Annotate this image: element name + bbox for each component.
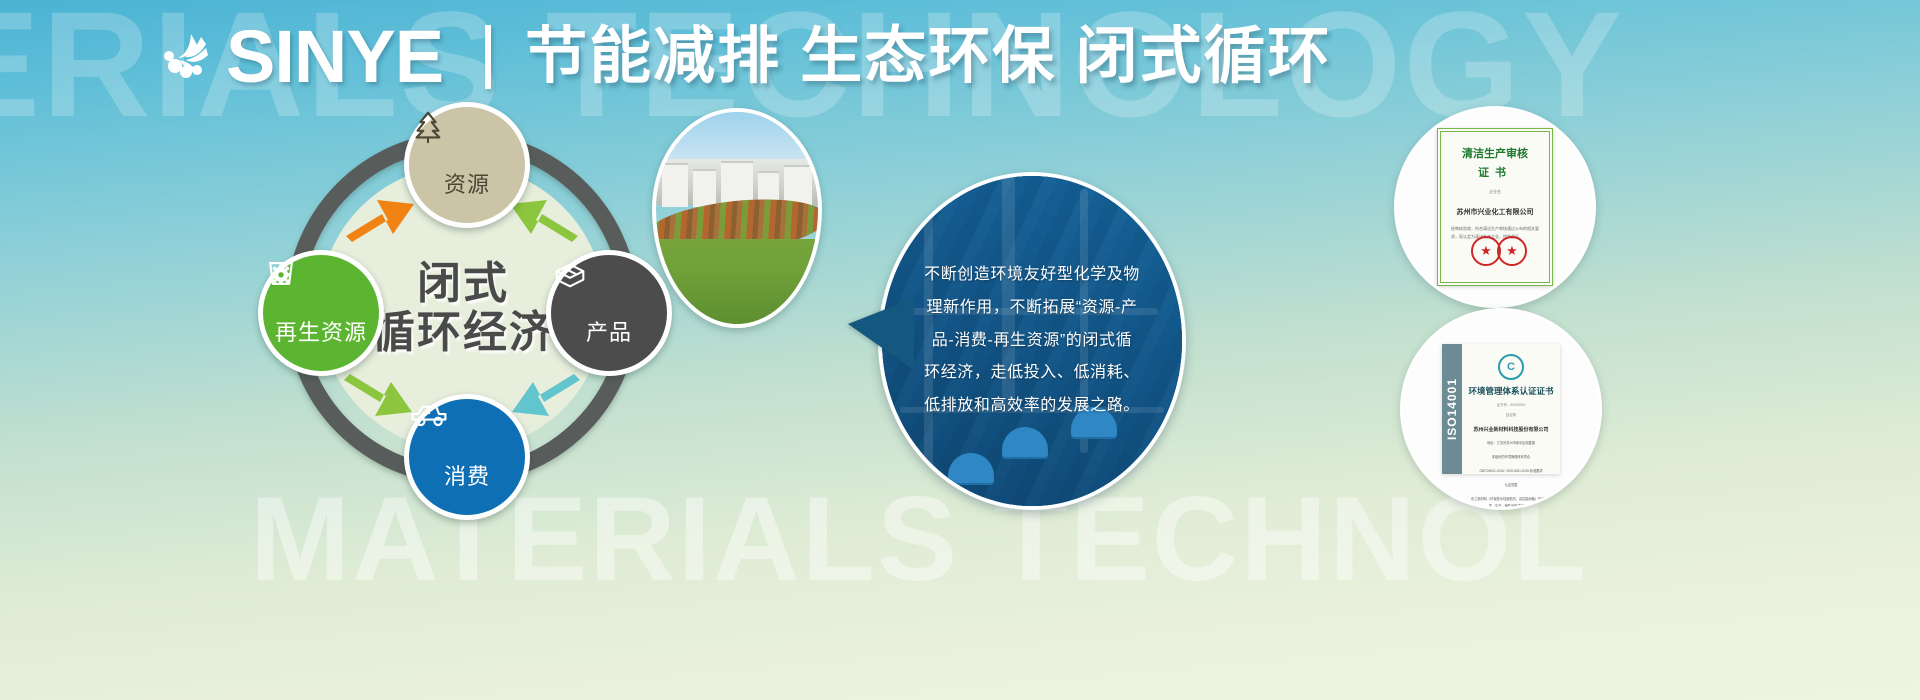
cert2-logo-icon: C <box>1498 354 1524 380</box>
cert2-cert-no: 证书号：00000000 <box>1468 402 1554 407</box>
cycle-node-recycle-label: 再生资源 <box>275 321 367 345</box>
cycle-node-product-label: 产品 <box>586 321 632 345</box>
bubble-line-1: 不断创造环境友好型化学及物 <box>924 259 1140 292</box>
cycle-center-label: 闭式 循环经济 <box>350 200 576 416</box>
bubble-line-4: 环经济，走低投入、低消耗、 <box>924 357 1140 390</box>
recycle-bin-icon <box>302 281 340 319</box>
cycle-node-resource-label: 资源 <box>444 173 490 197</box>
header-divider <box>485 25 491 89</box>
speech-bubble-body: 不断创造环境友好型化学及物 理新作用，不断拓展“资源-产 品-消费-再生资源”的… <box>878 172 1186 510</box>
speech-bubble-text: 不断创造环境友好型化学及物 理新作用，不断拓展“资源-产 品-消费-再生资源”的… <box>882 176 1182 506</box>
cert2-company-label: 兹证明 <box>1468 412 1554 417</box>
photo-lawn <box>656 239 818 324</box>
cert1-company: 苏州市兴业化工有限公司 <box>1446 207 1544 217</box>
cert1-subtitle: 证书 <box>1446 164 1544 180</box>
speech-bubble: 不断创造环境友好型化学及物 理新作用，不断拓展“资源-产 品-消费-再生资源”的… <box>848 172 1178 502</box>
header: SINYE 节能减排 生态环保 闭式循环 <box>160 14 1332 100</box>
bubble-line-2: 理新作用，不断拓展“资源-产 <box>926 292 1137 325</box>
certificate-clean-production[interactable]: 清洁生产审核 证书 企业名 苏州市兴业化工有限公司 经审核验收，符合清洁生产审核… <box>1394 106 1596 308</box>
certificate-paper: ISO14001 C 环境管理体系认证证书 证书号：00000000 兹证明 苏… <box>1442 344 1560 474</box>
photo-buildings <box>656 159 818 206</box>
cert2-company: 苏州兴业新材料科技股份有限公司 <box>1468 426 1554 433</box>
certificate-paper: 清洁生产审核 证书 企业名 苏州市兴业化工有限公司 经审核验收，符合清洁生产审核… <box>1437 128 1553 286</box>
headline: 节能减排 生态环保 闭式循环 <box>525 26 1331 88</box>
cert1-body: 经审核验收，符合清洁生产审核通过公布的相关要求，现认定为清洁生产企业，特发此证。 <box>1451 225 1539 240</box>
cert2-main: C 环境管理体系认证证书 证书号：00000000 兹证明 苏州兴业新材料科技股… <box>1462 344 1560 474</box>
cert2-scope-label: 认证范围 <box>1468 482 1554 489</box>
cert2-side-band: ISO14001 <box>1442 344 1462 474</box>
cert2-address: 地址：江苏省苏州市吴中区甪直镇 <box>1468 440 1554 447</box>
cert1-company-label: 企业名 <box>1446 189 1544 195</box>
cycle-node-consume-label: 消费 <box>444 465 490 489</box>
package-icon <box>590 281 628 319</box>
cycle-center-line2: 循环经济 <box>371 308 555 357</box>
cert2-side-label: ISO14001 <box>1445 378 1459 440</box>
circular-economy-diagram: 闭式 循环经济 资源 产品 <box>262 108 662 508</box>
cert1-stamp-right: ★ <box>1497 236 1527 266</box>
logo-text: SINYE <box>226 20 443 94</box>
cycle-center-line1: 闭式 <box>417 259 509 308</box>
banner-root: ERIALS TECHNOLOGY MATERIALS TECHNOL SINY… <box>0 0 1920 700</box>
cycle-node-consume[interactable]: 消费 <box>404 394 530 520</box>
cycle-node-recycle[interactable]: 再生资源 <box>258 250 384 376</box>
cycle-node-resource[interactable]: 资源 <box>404 102 530 228</box>
cert2-title: 环境管理体系认证证书 <box>1468 385 1554 397</box>
cycle-node-product[interactable]: 产品 <box>546 250 672 376</box>
cert2-standard: GB/T24001-2016 / ISO14001:2015 标准要求 <box>1468 468 1554 475</box>
leaf-splash-icon <box>160 26 222 88</box>
car-icon <box>448 425 486 463</box>
bubble-line-3: 品-消费-再生资源”的闭式循 <box>932 325 1132 358</box>
certificate-iso14001[interactable]: ISO14001 C 环境管理体系认证证书 证书号：00000000 兹证明 苏… <box>1400 308 1602 510</box>
speech-bubble-tail <box>848 298 914 370</box>
factory-landscape-photo <box>652 108 822 328</box>
tree-icon <box>448 133 486 171</box>
cert1-title: 清洁生产审核 <box>1446 145 1544 161</box>
bubble-line-5: 低排放和高效率的发展之路。 <box>924 390 1140 423</box>
cert2-standard-label: 本组织的环境管理体系符合 <box>1468 454 1554 461</box>
